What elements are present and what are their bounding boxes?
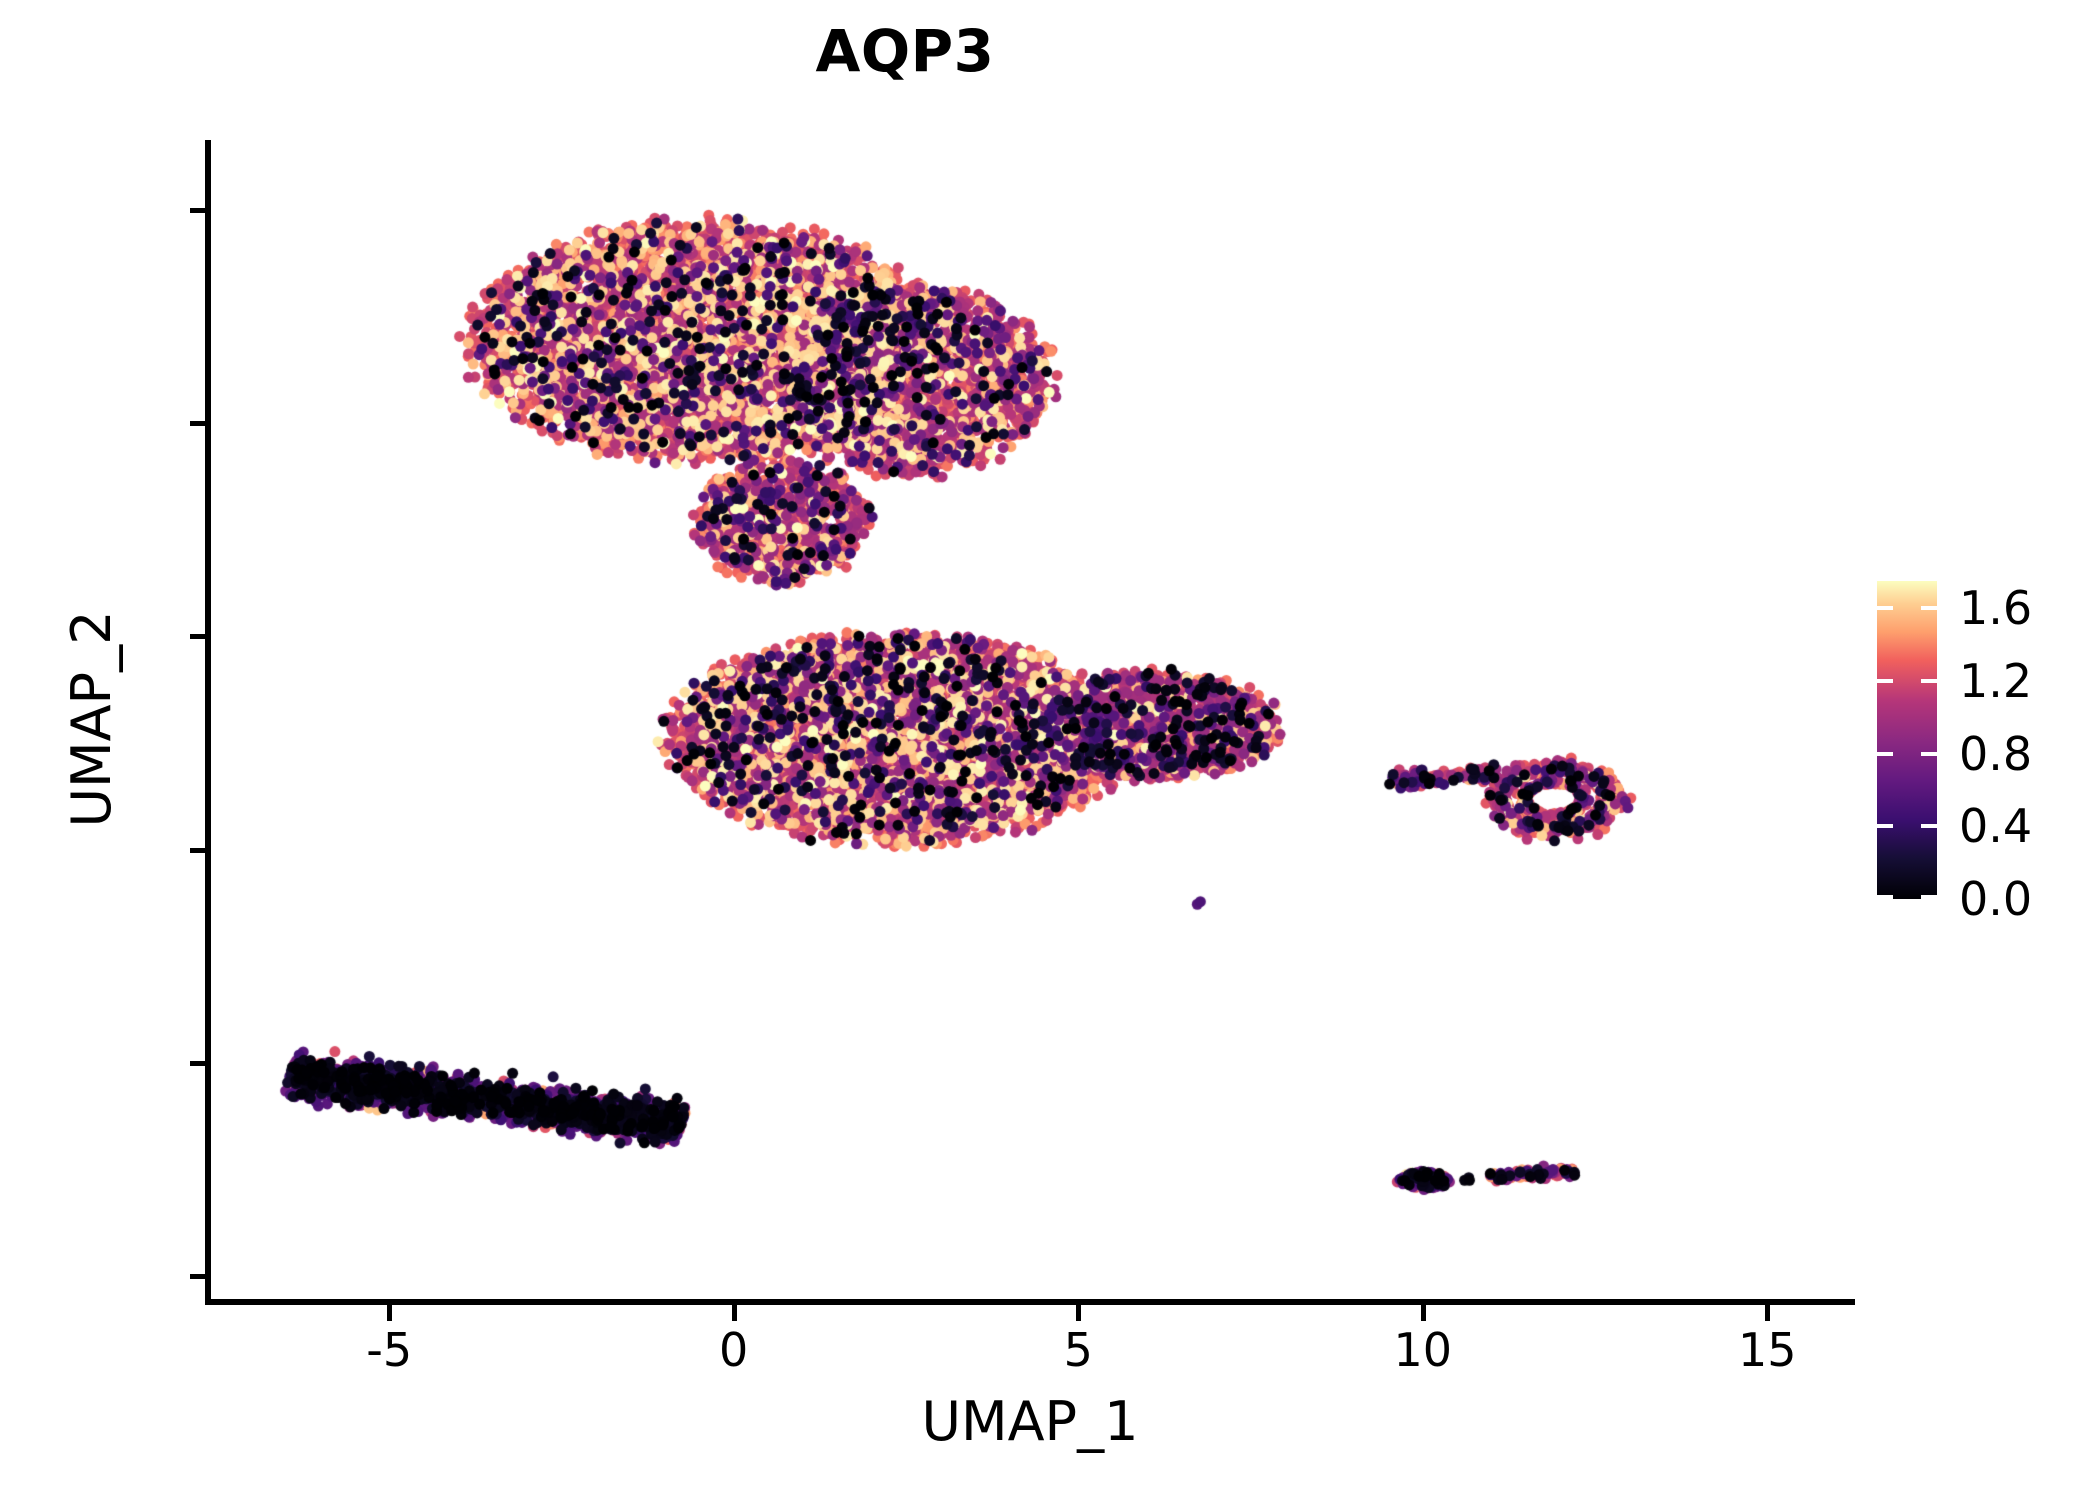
x-tick-label: 0 — [654, 1327, 814, 1373]
colorbar-gradient — [1877, 581, 1937, 899]
y-axis-spine — [205, 140, 211, 1304]
umap-feature-plot-figure: AQP3 20151050-5 -5051015 UMAP_1 UMAP_2 1… — [0, 0, 2100, 1500]
y-tick-mark — [190, 1274, 206, 1279]
x-tick-label: -5 — [309, 1327, 469, 1373]
scatter-canvas — [210, 150, 1850, 1302]
x-tick-label: 15 — [1687, 1327, 1847, 1373]
colorbar-tick-label: 1.6 — [1959, 585, 2032, 631]
y-tick-mark — [190, 634, 206, 639]
y-axis-label: UMAP_2 — [63, 319, 121, 1119]
x-axis-label: UMAP_1 — [210, 1393, 1850, 1451]
x-tick-mark — [1765, 1305, 1770, 1321]
colorbar-tick-label: 0.4 — [1959, 803, 2032, 849]
y-tick-mark — [190, 1061, 206, 1066]
x-tick-label: 10 — [1343, 1327, 1503, 1373]
y-tick-mark — [190, 848, 206, 853]
scatter-plot-area — [210, 150, 1850, 1302]
colorbar-tick-label: 0.8 — [1959, 731, 2032, 777]
colorbar-tick-label: 0.0 — [1959, 876, 2032, 922]
page-title: AQP3 — [0, 22, 1810, 80]
x-tick-mark — [1076, 1305, 1081, 1321]
x-tick-label: 5 — [998, 1327, 1158, 1373]
colorbar-tick-label: 1.2 — [1959, 658, 2032, 704]
y-tick-mark — [190, 208, 206, 213]
y-tick-mark — [190, 421, 206, 426]
x-tick-mark — [1421, 1305, 1426, 1321]
x-tick-mark — [732, 1305, 737, 1321]
x-tick-mark — [387, 1305, 392, 1321]
x-axis-spine — [205, 1299, 1855, 1305]
colorbar-legend: 1.61.20.80.40.0 — [1877, 581, 2077, 899]
